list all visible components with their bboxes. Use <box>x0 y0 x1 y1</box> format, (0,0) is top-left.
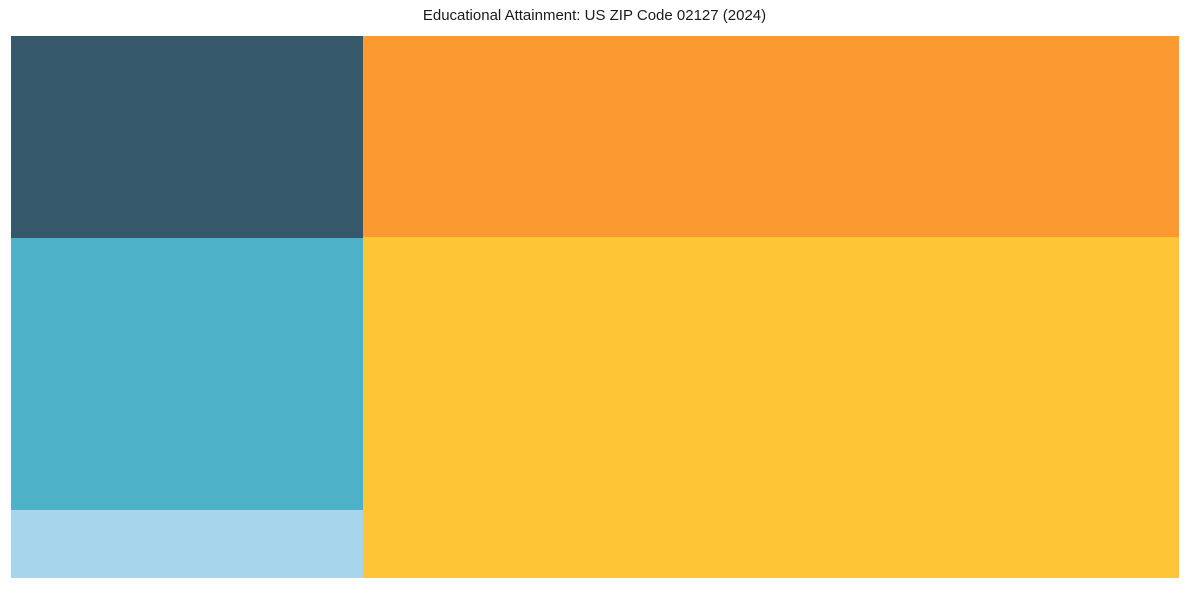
mosaic-column-no-bachelors[interactable]: Segment 1 Segment 2 Segment 3 <box>11 36 363 578</box>
mosaic-column-bachelors-or-higher[interactable]: Segment 1 Segment 2 <box>363 36 1179 578</box>
chart-title: Educational Attainment: US ZIP Code 0212… <box>0 7 1189 25</box>
mosaic-plot-area: Segment 1 Segment 2 Segment 3 Segment 1 … <box>11 36 1179 578</box>
mosaic-tile-right-segment-1[interactable]: Segment 1 <box>363 36 1179 237</box>
figure-canvas: Educational Attainment: US ZIP Code 0212… <box>0 0 1189 590</box>
mosaic-tile-left-segment-3[interactable]: Segment 3 <box>11 510 363 578</box>
mosaic-tile-left-segment-1[interactable]: Segment 1 <box>11 36 363 238</box>
mosaic-tile-right-segment-2[interactable]: Segment 2 <box>363 237 1179 578</box>
mosaic-tile-left-segment-2[interactable]: Segment 2 <box>11 238 363 510</box>
